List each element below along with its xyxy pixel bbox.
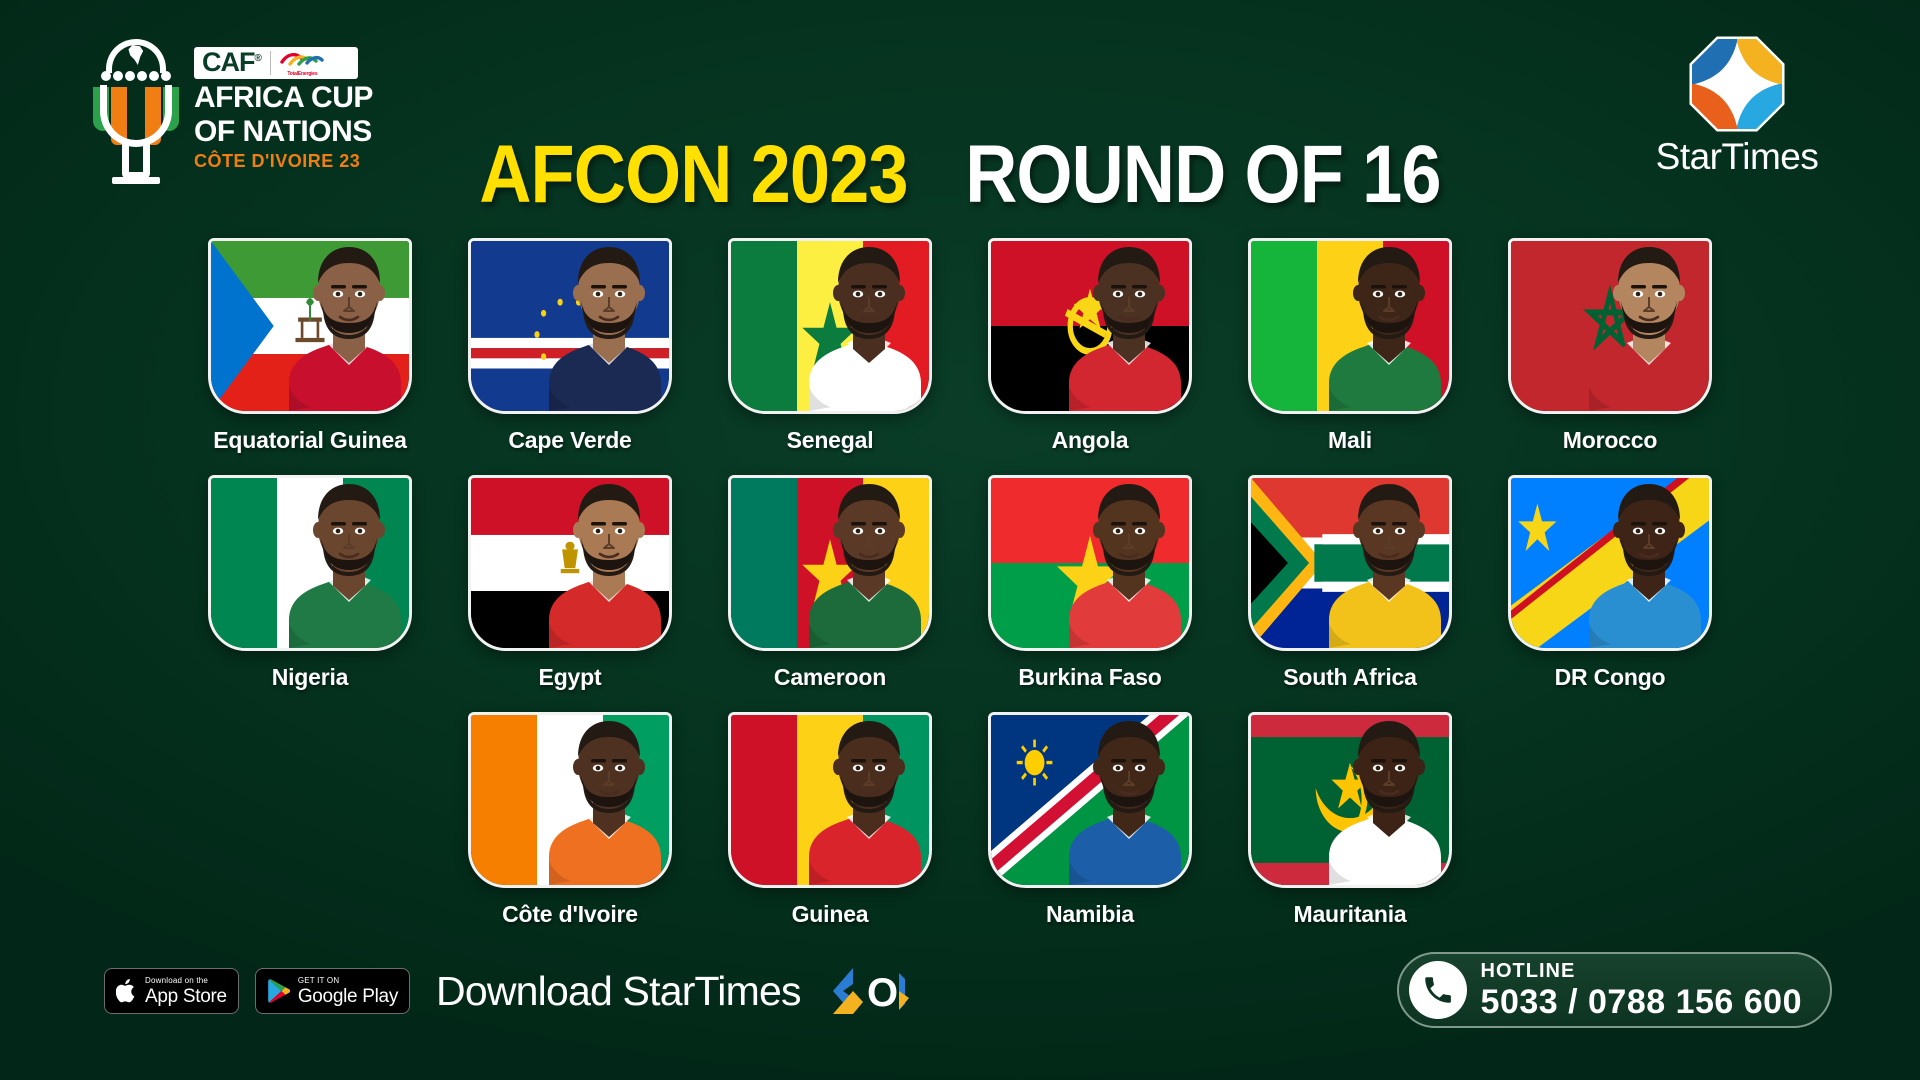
team-row-3: Côte d'Ivoire xyxy=(0,712,1920,928)
team-name-label: Namibia xyxy=(1046,901,1134,928)
team-card-image xyxy=(208,238,412,414)
team-card[interactable]: Nigeria xyxy=(208,475,412,691)
team-name-label: Mauritania xyxy=(1293,901,1406,928)
team-card[interactable]: Namibia xyxy=(988,712,1192,928)
title-highlight: AFCON 2023 xyxy=(479,129,907,220)
download-startimes-label: Download StarTimes xyxy=(436,968,801,1015)
team-name-label: Nigeria xyxy=(272,664,349,691)
team-card-image xyxy=(728,238,932,414)
team-name-label: Senegal xyxy=(787,427,874,454)
player-portrait xyxy=(283,238,412,411)
hotline-label: HOTLINE xyxy=(1481,961,1802,981)
player-portrait xyxy=(543,238,672,411)
app-store-big-label: App Store xyxy=(145,987,227,1006)
team-card-image xyxy=(468,475,672,651)
team-row-2: Nigeria xyxy=(0,475,1920,691)
caf-title-line-1: AFRICA CUP xyxy=(194,83,373,112)
player-portrait xyxy=(803,712,932,885)
player-portrait xyxy=(543,712,672,885)
team-card-image xyxy=(728,712,932,888)
team-name-label: Morocco xyxy=(1563,427,1657,454)
page-title: AFCON 2023 ROUND OF 16 xyxy=(115,128,1805,222)
totalenergies-icon: TotalEnergies xyxy=(280,50,324,76)
team-card-image xyxy=(988,238,1192,414)
svg-text:O: O xyxy=(867,971,898,1015)
team-card[interactable]: Guinea xyxy=(728,712,932,928)
team-name-label: Cape Verde xyxy=(508,427,631,454)
team-name-label: Mali xyxy=(1328,427,1372,454)
team-card[interactable]: Angola xyxy=(988,238,1192,454)
team-card[interactable]: Equatorial Guinea xyxy=(208,238,412,454)
team-card-image xyxy=(988,712,1192,888)
team-card-image xyxy=(1508,238,1712,414)
team-card[interactable]: Cape Verde xyxy=(468,238,672,454)
team-card[interactable]: DR Congo xyxy=(1508,475,1712,691)
player-portrait xyxy=(1063,712,1192,885)
app-store-button[interactable]: Download on the App Store xyxy=(104,968,239,1014)
startimes-on-icon: O xyxy=(819,964,909,1018)
google-play-small-label: GET IT ON xyxy=(298,977,398,985)
team-name-label: DR Congo xyxy=(1555,664,1666,691)
team-card-image xyxy=(468,238,672,414)
team-name-label: Burkina Faso xyxy=(1018,664,1161,691)
team-name-label: Egypt xyxy=(539,664,602,691)
phone-icon-wrapper xyxy=(1409,961,1467,1019)
phone-icon xyxy=(1421,973,1455,1007)
team-name-label: Guinea xyxy=(792,901,869,928)
team-card[interactable]: Mauritania xyxy=(1248,712,1452,928)
apple-icon xyxy=(116,978,138,1004)
badge-divider xyxy=(270,51,272,75)
startimes-star-icon xyxy=(1689,36,1785,132)
team-name-label: Equatorial Guinea xyxy=(213,427,406,454)
team-name-label: Côte d'Ivoire xyxy=(502,901,638,928)
download-bar: Download on the App Store GET IT ON Goog… xyxy=(104,964,909,1018)
team-name-label: South Africa xyxy=(1283,664,1416,691)
team-card-image xyxy=(1508,475,1712,651)
totalenergies-label: TotalEnergies xyxy=(280,71,324,77)
player-portrait xyxy=(803,475,932,648)
team-card-image xyxy=(468,712,672,888)
team-card[interactable]: Senegal xyxy=(728,238,932,454)
team-card-image xyxy=(728,475,932,651)
team-card[interactable]: Burkina Faso xyxy=(988,475,1192,691)
player-portrait xyxy=(1323,238,1452,411)
team-card-image xyxy=(1248,475,1452,651)
totalenergies-swoosh-icon xyxy=(280,51,324,66)
hotline-number: 5033 / 0788 156 600 xyxy=(1481,985,1802,1019)
team-card[interactable]: Egypt xyxy=(468,475,672,691)
google-play-big-label: Google Play xyxy=(298,987,398,1006)
team-card-image xyxy=(208,475,412,651)
google-play-icon xyxy=(267,978,291,1004)
team-card-image xyxy=(1248,238,1452,414)
team-card[interactable]: Cameroon xyxy=(728,475,932,691)
team-name-label: Angola xyxy=(1052,427,1129,454)
caf-badge: CAF® TotalEnergies xyxy=(194,47,358,79)
team-card[interactable]: Morocco xyxy=(1508,238,1712,454)
player-portrait xyxy=(1323,712,1452,885)
player-portrait xyxy=(803,238,932,411)
app-store-small-label: Download on the xyxy=(145,977,227,985)
team-card[interactable]: Mali xyxy=(1248,238,1452,454)
player-portrait xyxy=(1583,475,1712,648)
team-row-1: Equatorial Guinea xyxy=(0,238,1920,454)
hotline-badge[interactable]: HOTLINE 5033 / 0788 156 600 xyxy=(1397,952,1832,1028)
player-portrait xyxy=(283,475,412,648)
team-card[interactable]: Côte d'Ivoire xyxy=(468,712,672,928)
google-play-button[interactable]: GET IT ON Google Play xyxy=(255,968,410,1014)
team-card-image xyxy=(988,475,1192,651)
caf-wordmark: CAF® xyxy=(202,49,261,76)
title-rest: ROUND OF 16 xyxy=(965,129,1440,220)
player-portrait xyxy=(543,475,672,648)
player-portrait xyxy=(1583,238,1712,411)
afcon-round-of-16-poster: CAF® TotalEnergies AFRICA CUP OF NATIONS… xyxy=(0,0,1920,1080)
player-portrait xyxy=(1323,475,1452,648)
team-name-label: Cameroon xyxy=(774,664,886,691)
team-card[interactable]: South Africa xyxy=(1248,475,1452,691)
player-portrait xyxy=(1063,475,1192,648)
player-portrait xyxy=(1063,238,1192,411)
team-card-image xyxy=(1248,712,1452,888)
